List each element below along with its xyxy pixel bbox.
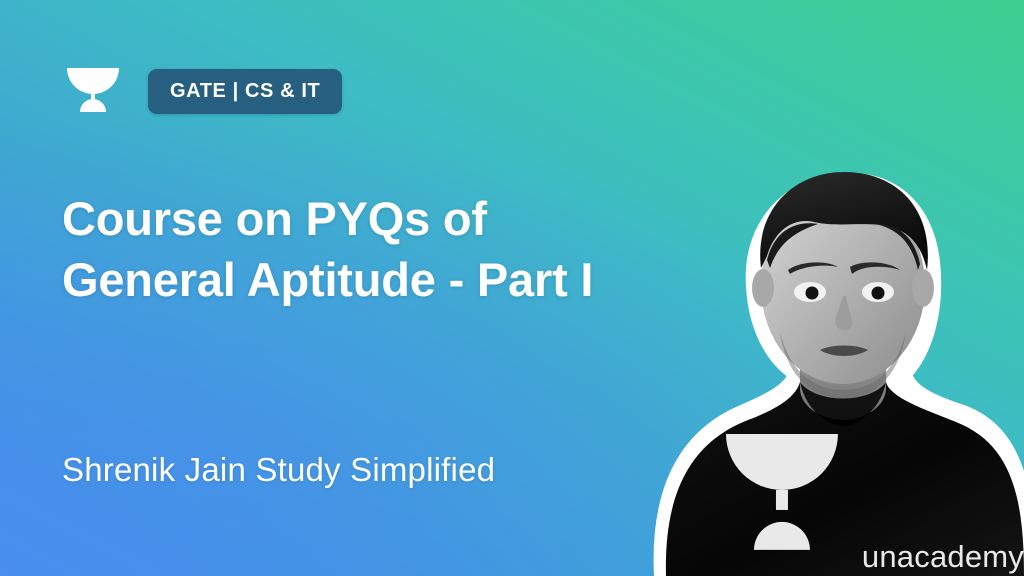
pupil-right (872, 287, 885, 300)
shirt-brand-name: unacademy (862, 540, 1024, 574)
category-badge-label: GATE | CS & IT (170, 80, 320, 103)
shirt-unacademy-bowl-logo-icon (714, 414, 850, 574)
instructor-name: Shrenik Jain Study Simplified (62, 448, 662, 492)
shirt-brand-logo: unacademy (714, 414, 1024, 574)
course-thumbnail-card: GATE | CS & IT Course on PYQs of General… (0, 0, 1024, 576)
course-title: Course on PYQs of General Aptitude - Par… (62, 188, 628, 310)
category-badge[interactable]: GATE | CS & IT (148, 69, 342, 114)
ear-left (752, 269, 774, 307)
unacademy-bowl-logo-icon (62, 60, 124, 122)
header: GATE | CS & IT (62, 60, 342, 122)
pupil-left (806, 287, 819, 300)
instructor-portrait: unacademy (594, 136, 1024, 576)
ear-right (912, 269, 934, 307)
